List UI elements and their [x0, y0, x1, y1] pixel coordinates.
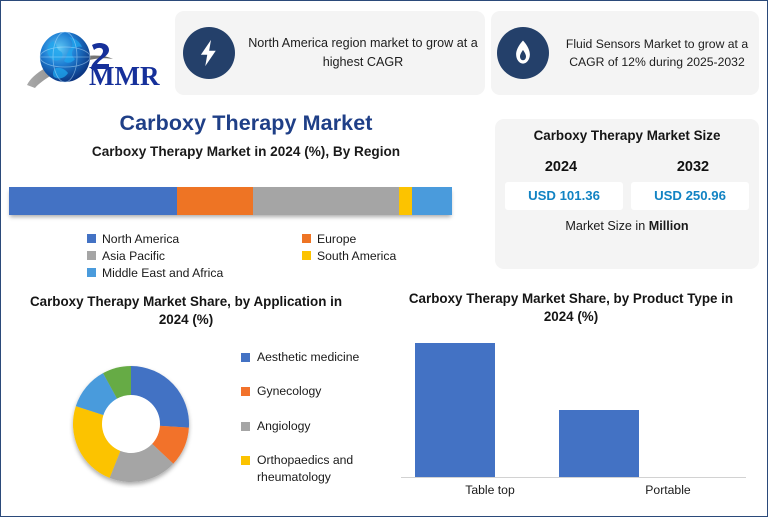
header-card-fluid-sensors: Fluid Sensors Market to grow at a CAGR o… [491, 11, 759, 95]
stacked-bar-track [9, 187, 452, 215]
region-legend-label: South America [317, 249, 396, 263]
lightning-bolt-icon [183, 27, 235, 79]
application-legend: Aesthetic medicineGynecologyAngiologyOrt… [241, 349, 401, 504]
stacked-bar-segment [9, 187, 177, 215]
legend-swatch-icon [87, 234, 96, 243]
market-size-value-base: USD 101.36 [505, 182, 623, 210]
page-title: Carboxy Therapy Market [1, 111, 491, 136]
stacked-bar-segment [253, 187, 399, 215]
market-size-value-forecast: USD 250.96 [631, 182, 749, 210]
product-axis-label: Table top [401, 483, 579, 497]
legend-swatch-icon [241, 387, 250, 396]
product-axis-label: Portable [579, 483, 757, 497]
product-bar [415, 343, 495, 477]
product-chart-title: Carboxy Therapy Market Share, by Product… [399, 290, 743, 326]
legend-swatch-icon [241, 456, 250, 465]
application-legend-item: Aesthetic medicine [241, 349, 401, 366]
application-legend-item: Angiology [241, 418, 401, 435]
svg-text:MMR: MMR [89, 61, 160, 91]
market-size-years: 2024 2032 [495, 159, 759, 175]
region-chart-title: Carboxy Therapy Market in 2024 (%), By R… [1, 144, 491, 159]
market-size-unit-note: Market Size in Million [495, 219, 759, 233]
header-card-1-text: North America region market to grow at a… [241, 34, 485, 72]
region-legend-item: Europe [302, 230, 487, 247]
legend-swatch-icon [87, 251, 96, 260]
legend-swatch-icon [302, 234, 311, 243]
market-size-unit-prefix: Market Size in [565, 219, 648, 233]
application-legend-item: Gynecology [241, 383, 401, 400]
region-legend-label: Europe [317, 232, 356, 246]
market-size-unit-value: Million [649, 219, 689, 233]
legend-swatch-icon [241, 422, 250, 431]
region-legend: North AmericaEuropeAsia PacificSouth Ame… [87, 230, 487, 282]
header: MMR North America region market to grow … [1, 1, 768, 104]
stacked-bar-segment [399, 187, 412, 215]
product-bar [559, 410, 639, 477]
market-size-panel: Carboxy Therapy Market Size 2024 2032 US… [495, 119, 759, 269]
market-size-year-base: 2024 [495, 159, 627, 175]
region-legend-item: South America [302, 247, 487, 264]
market-size-values: USD 101.36 USD 250.96 [495, 182, 759, 210]
application-legend-label: Orthopaedics and rheumatology [257, 452, 401, 487]
application-legend-item: Orthopaedics and rheumatology [241, 452, 401, 487]
region-legend-label: Asia Pacific [102, 249, 165, 263]
header-card-north-america: North America region market to grow at a… [175, 11, 485, 95]
product-axis-line [401, 477, 746, 478]
stacked-bar-segment [412, 187, 452, 215]
legend-swatch-icon [241, 353, 250, 362]
region-legend-item: North America [87, 230, 302, 247]
legend-swatch-icon [87, 268, 96, 277]
header-card-2-text: Fluid Sensors Market to grow at a CAGR o… [555, 35, 759, 72]
stacked-bar-segment [177, 187, 252, 215]
region-legend-label: North America [102, 232, 179, 246]
mmr-logo: MMR [23, 23, 173, 93]
product-axis-labels: Table topPortable [401, 483, 757, 497]
application-legend-label: Gynecology [257, 383, 321, 400]
market-size-title: Carboxy Therapy Market Size [495, 127, 759, 145]
region-legend-label: Middle East and Africa [102, 266, 223, 280]
legend-swatch-icon [302, 251, 311, 260]
application-chart-title: Carboxy Therapy Market Share, by Applica… [21, 293, 351, 329]
application-donut-chart [69, 364, 193, 488]
application-legend-label: Angiology [257, 418, 311, 435]
application-legend-label: Aesthetic medicine [257, 349, 359, 366]
product-bar-chart: Table topPortable [401, 331, 757, 511]
region-stacked-bar-chart [9, 187, 452, 217]
region-legend-item: Asia Pacific [87, 247, 302, 264]
market-size-year-forecast: 2032 [627, 159, 759, 175]
product-bar-plot [401, 331, 757, 477]
region-legend-item: Middle East and Africa [87, 264, 302, 281]
infographic-frame: MMR North America region market to grow … [0, 0, 768, 517]
flame-icon [497, 27, 549, 79]
